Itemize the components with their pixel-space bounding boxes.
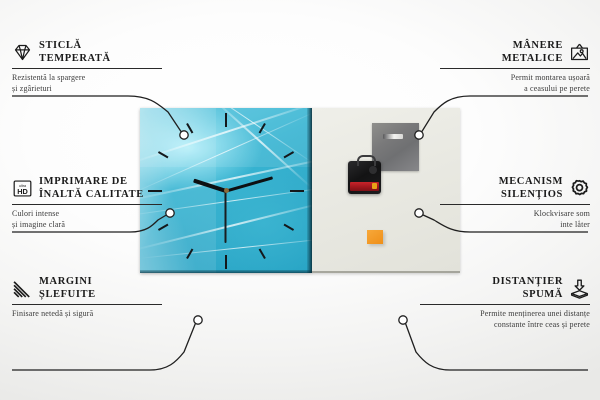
feature-title-line2: ÎNALTĂ CALITATE [39, 189, 144, 202]
divider [12, 304, 162, 305]
feature-sub-line1: Rezistentă la spargere [12, 73, 162, 84]
polished-edge-icon [12, 278, 33, 299]
divider [440, 204, 590, 205]
feature-polished-edges: MARGINI ȘLEFUITE Finisare netedă și sigu… [12, 276, 162, 320]
feature-title-line2: TEMPERATĂ [39, 53, 111, 66]
feature-sub-line1: Permit montarea ușoară [440, 73, 590, 84]
picture-hanger-icon [569, 42, 590, 63]
feature-sub-line2: inte låter [440, 220, 590, 231]
feature-sub-line1: Klockvisare som [440, 209, 590, 220]
feature-sub-line2: constante între ceas și perete [420, 320, 590, 331]
foam-spacer-icon [569, 278, 590, 299]
feature-title-line1: STICLĂ [39, 40, 111, 53]
product-image [140, 108, 460, 273]
feature-hd-print: ultra HD IMPRIMARE DE ÎNALTĂ CALITATE Cu… [12, 176, 162, 230]
connector-node [194, 316, 202, 324]
ultra-hd-large: HD [17, 187, 28, 196]
diamond-icon [12, 42, 33, 63]
battery [350, 182, 379, 191]
divider [420, 304, 590, 305]
feature-sub-line1: Permite menținerea unei distanțe [420, 309, 590, 320]
clock-front-panel [140, 108, 312, 273]
feature-title-line2: ȘLEFUITE [39, 289, 96, 302]
clock-back-panel [312, 108, 460, 273]
feature-sub-line2: a ceasului pe perete [440, 84, 590, 95]
feature-title-line2: METALICE [502, 53, 563, 66]
mechanism-hook [357, 155, 376, 166]
divider [440, 68, 590, 69]
feature-sub-line2: și zgârieturi [12, 84, 162, 95]
ultra-hd-icon: ultra HD [12, 178, 33, 199]
clock-center-cap [224, 188, 229, 193]
feature-sub-line1: Finisare netedă și sigură [12, 309, 162, 320]
feature-title-line1: IMPRIMARE DE [39, 176, 144, 189]
feature-metal-handles: MÂNERE METALICE Permit montarea ușoară a… [440, 40, 590, 94]
mechanism-dial [369, 166, 377, 174]
connector-node [399, 316, 407, 324]
feature-silent-mechanism: MECANISM SILENȚIOS Klockvisare som inte … [440, 176, 590, 230]
feature-title-line1: DISTANȚIER [492, 276, 563, 289]
clock-mechanism [348, 161, 381, 194]
glass-bottom-edge [140, 270, 312, 273]
feature-title-line2: SILENȚIOS [499, 189, 563, 202]
infographic-stage: STICLĂ TEMPERATĂ Rezistentă la spargere … [0, 0, 600, 400]
feature-title-line2: SPUMĂ [492, 289, 563, 302]
feature-tempered-glass: STICLĂ TEMPERATĂ Rezistentă la spargere … [12, 40, 162, 94]
feature-sub-line2: și imagine clară [12, 220, 162, 231]
feature-sub-line1: Culori intense [12, 209, 162, 220]
feature-title-line1: MECANISM [499, 176, 563, 189]
feature-title-line1: MÂNERE [502, 40, 563, 53]
feature-foam-spacer: DISTANȚIER SPUMĂ Permite menținerea unei… [420, 276, 590, 330]
feature-title-line1: MARGINI [39, 276, 96, 289]
foam-spacer [367, 230, 383, 244]
divider [12, 204, 162, 205]
hanger-slot [383, 134, 403, 139]
divider [12, 68, 162, 69]
gear-icon [569, 178, 590, 199]
